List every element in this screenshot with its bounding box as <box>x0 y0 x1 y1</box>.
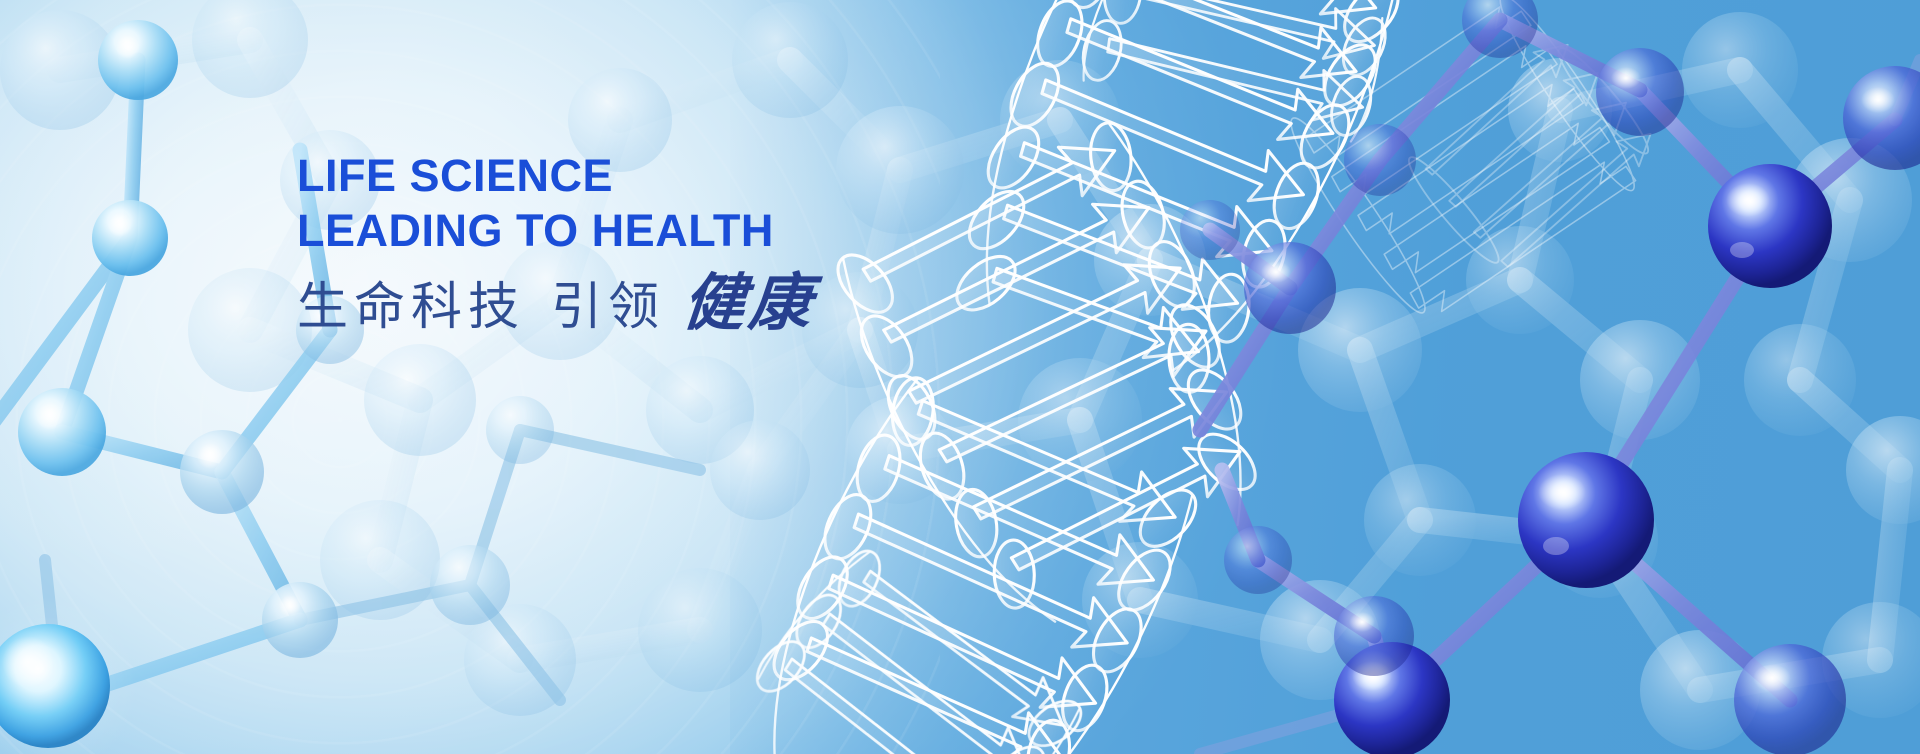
hero-banner: LIFE SCIENCE LEADING TO HEALTH 生命科技 引领 健… <box>0 0 1920 754</box>
subheadline-line: 生命科技 引领 健康 <box>297 272 815 339</box>
background-light-vignette <box>0 0 1920 754</box>
subheadline-part-3-brush: 健康 <box>680 272 817 334</box>
subheadline-part-1: 生命科技 <box>297 277 525 339</box>
headline-block: LIFE SCIENCE LEADING TO HEALTH 生命科技 引领 健… <box>297 148 815 339</box>
subheadline-part-2: 引领 <box>551 277 665 339</box>
headline-line-1: LIFE SCIENCE <box>297 148 815 203</box>
headline-line-2: LEADING TO HEALTH <box>297 203 815 258</box>
